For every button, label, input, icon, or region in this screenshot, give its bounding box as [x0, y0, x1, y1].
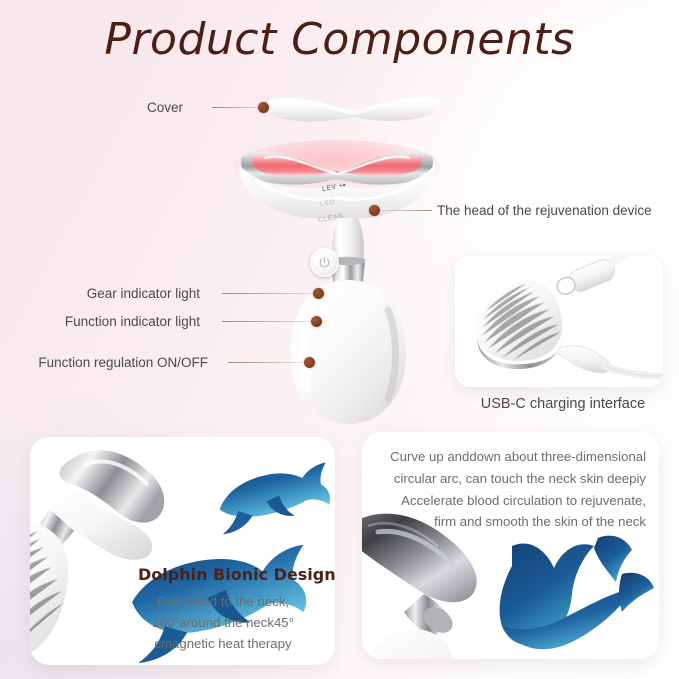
usb-charging-illustration — [455, 256, 663, 387]
callout-leader-gear-indicator — [222, 293, 319, 294]
callout-leader-head — [380, 210, 432, 211]
power-icon — [318, 256, 331, 269]
callout-leader-cover — [212, 107, 264, 108]
dolphin-bionic-design-card: Dolphin Bionic Design: Fully fitted to t… — [30, 437, 335, 665]
curve-device-illustration: LEV LED — [362, 432, 659, 659]
power-button[interactable] — [310, 248, 339, 277]
callout-dot-cover — [258, 102, 269, 113]
callout-dot-function-onoff — [304, 357, 315, 368]
page-title: Product Components — [0, 14, 679, 65]
callout-label-function-onoff: Function regulation ON/OFF — [0, 355, 208, 370]
curve-benefits-card: Curve up anddown about three-dimensional… — [362, 432, 659, 659]
usb-card-caption: USB-C charging interface — [448, 396, 678, 412]
device-cover-illustration — [264, 90, 442, 132]
callout-dot-head — [369, 205, 380, 216]
dolphin-card-title: Dolphin Bionic Design: — [138, 565, 335, 584]
callout-label-function-indicator: Function indicator light — [0, 314, 200, 329]
callout-leader-function-onoff — [228, 362, 310, 363]
dolphin-card-body: Fully fitted to the neck, 160°around the… — [125, 592, 321, 655]
callout-label-cover: Cover — [147, 100, 183, 115]
callout-dot-gear-indicator — [313, 288, 324, 299]
dolphin-card-line3: cmagnetic heat therapy — [125, 634, 321, 655]
callout-leader-function-indicator — [222, 321, 317, 322]
usb-charging-card — [455, 256, 663, 387]
dolphin-card-line2: 160°around the neck45° — [125, 613, 321, 634]
device-body-illustration — [284, 218, 412, 428]
product-exploded-view: LEV LED CLEAN — [212, 78, 442, 423]
callout-label-gear-indicator: Gear indicator light — [0, 286, 200, 301]
dolphin-card-line1: Fully fitted to the neck, — [125, 592, 321, 613]
callout-dot-function-indicator — [311, 316, 322, 327]
infographic-canvas: Product Components — [0, 0, 679, 679]
callout-label-head: The head of the rejuvenation device — [437, 203, 652, 218]
